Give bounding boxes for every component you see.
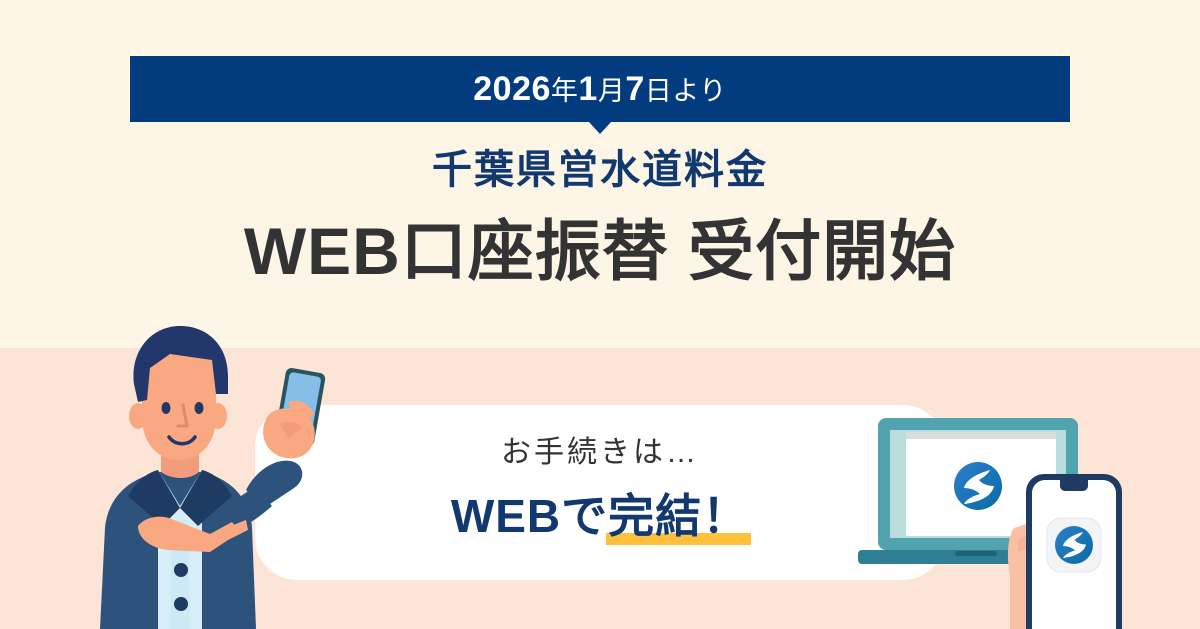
devices-illustration	[850, 400, 1200, 629]
date-year-number: 2026	[473, 70, 551, 108]
date-month-number: 1	[578, 70, 597, 108]
date-banner-text: 2026年1月7日より	[473, 72, 726, 106]
date-day-label: 日	[645, 76, 673, 106]
date-suffix: より	[672, 76, 726, 106]
date-month-label: 月	[598, 76, 626, 106]
promo-banner-root: 2026年1月7日より 千葉県営水道料金 WEB口座振替 受付開始	[0, 0, 1200, 629]
card-result-prefix: WEBで	[451, 490, 608, 542]
page-title: WEB口座振替 受付開始	[0, 214, 1200, 290]
businessman-illustration	[50, 320, 340, 629]
card-lead-text: お手続きは…	[400, 435, 800, 471]
banner-notch-triangle	[589, 122, 611, 134]
card-result-text: WEBで完結！	[400, 487, 800, 547]
date-banner: 2026年1月7日より	[130, 56, 1070, 122]
date-year-label: 年	[551, 76, 579, 106]
date-day-number: 7	[625, 70, 644, 108]
card-result-highlight: 完結！	[608, 487, 749, 547]
page-subtitle: 千葉県営水道料金	[0, 148, 1200, 192]
